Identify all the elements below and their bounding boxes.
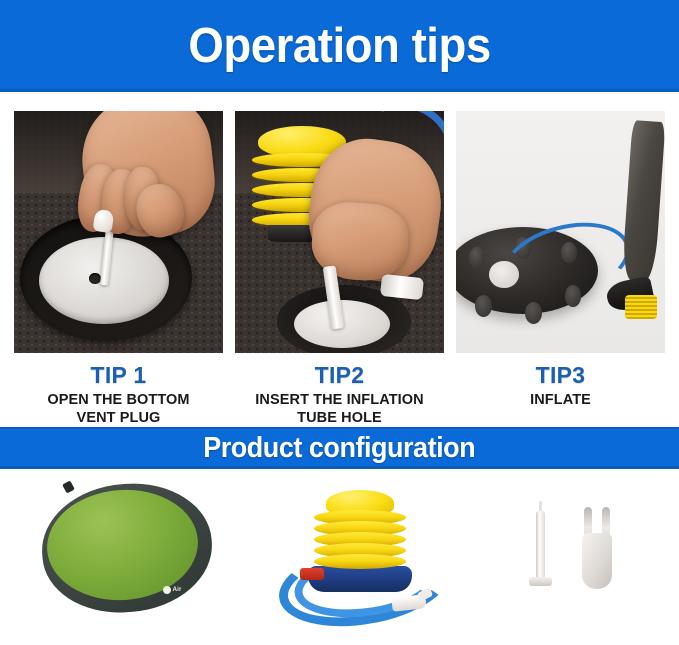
leg-icon: [622, 120, 665, 282]
tip-photo-2: [235, 111, 444, 353]
spare-nozzle-icon: [380, 273, 424, 299]
foot-pump-icon: [625, 295, 656, 319]
product-item-valve-accessories: [478, 478, 668, 618]
green-seat-cushion-icon: Air: [42, 484, 212, 612]
tip-label: TIP3: [530, 363, 591, 388]
tips-row: TIP 1 OPEN THE BOTTOM VENT PLUG: [0, 92, 679, 427]
tip-caption-1: TIP 1 OPEN THE BOTTOM VENT PLUG: [47, 353, 189, 427]
fork-body: [582, 533, 612, 589]
tip-label: TIP2: [255, 363, 423, 388]
tip-photo-1: [14, 111, 223, 353]
logo-text: Air: [173, 587, 182, 593]
foot-pump-icon: [272, 482, 448, 614]
product-configuration-banner: Product configuration: [0, 427, 679, 469]
page-title: Operation tips: [188, 20, 490, 72]
product-item-foot-pump: [245, 478, 475, 618]
seat-brand-logo: Air: [163, 586, 182, 594]
tip-card-2: TIP2 INSERT THE INFLATION TUBE HOLE: [235, 111, 444, 427]
operation-tips-banner: Operation tips: [0, 0, 679, 92]
product-configuration-row: Air: [0, 469, 679, 626]
red-valve-icon: [300, 568, 324, 580]
valve-accessories-icon: [508, 493, 638, 603]
tip-label: TIP 1: [47, 363, 189, 388]
tip-description: OPEN THE BOTTOM VENT PLUG: [47, 388, 189, 427]
inflation-needle-icon: [536, 511, 545, 583]
product-configuration-title: Product configuration: [204, 433, 476, 464]
valve-hole-icon: [89, 273, 100, 284]
needle-flange: [529, 577, 552, 586]
tip-card-3: TIP3 INFLATE: [456, 111, 665, 427]
bellows-ring: [314, 554, 406, 569]
tip-caption-3: TIP3 INFLATE: [530, 353, 591, 409]
product-item-green-seat-cushion: Air: [12, 478, 242, 618]
seat-zipper-tab: [62, 480, 75, 493]
tip-caption-2: TIP2 INSERT THE INFLATION TUBE HOLE: [255, 353, 423, 427]
logo-dot-icon: [163, 586, 171, 594]
tip-description: INSERT THE INFLATION TUBE HOLE: [255, 388, 423, 427]
disc-foot: [475, 295, 492, 317]
tip-description: INFLATE: [530, 388, 591, 409]
bellows-stack: [314, 490, 406, 568]
fork-tool-icon: [580, 507, 614, 589]
disc-foot: [525, 302, 542, 324]
tip-photo-3: [456, 111, 665, 353]
tip-card-1: TIP 1 OPEN THE BOTTOM VENT PLUG: [14, 111, 223, 427]
